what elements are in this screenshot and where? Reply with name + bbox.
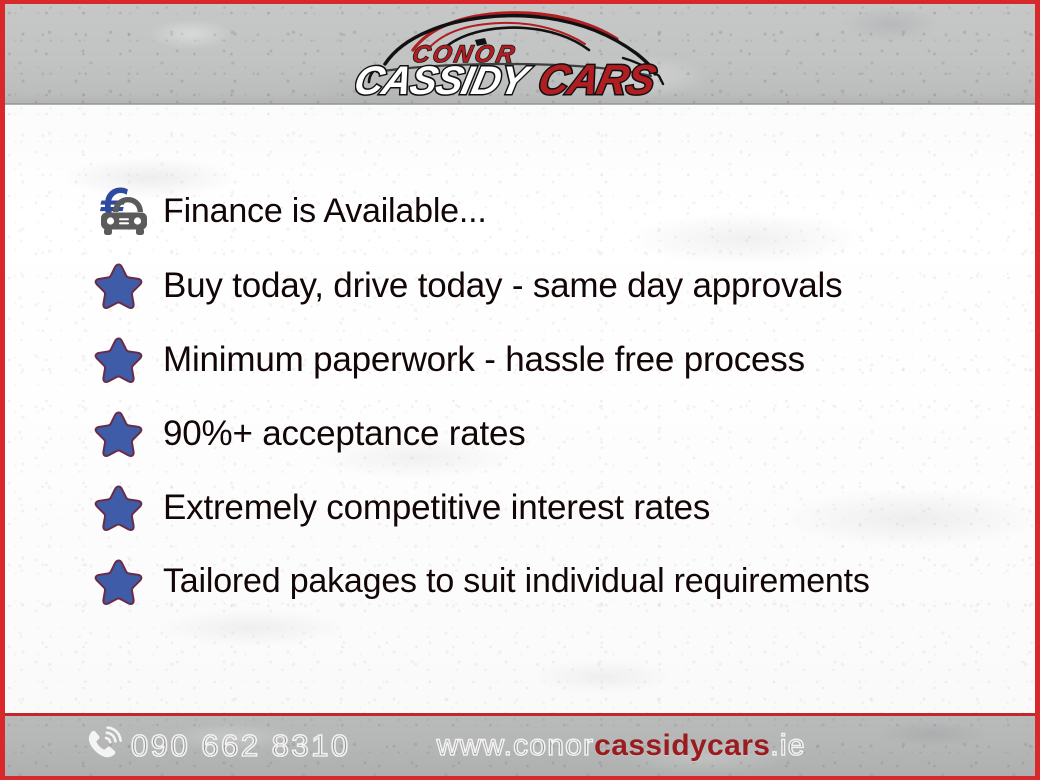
car-euro-finance-icon: [93, 183, 157, 241]
website-url[interactable]: www.conorcassidycars.ie: [437, 729, 806, 763]
footer-band: 090 662 8310 www.conorcassidycars.ie: [5, 713, 1035, 776]
website-prefix: www.: [437, 729, 513, 763]
list-item: Extremely competitive interest rates: [5, 479, 1035, 537]
phone-number[interactable]: 090 662 8310: [131, 728, 351, 764]
star-icon: [93, 261, 157, 311]
star-icon: [93, 335, 157, 385]
benefit-text: Minimum paperwork - hassle free process: [163, 342, 805, 379]
benefit-text: Finance is Available...: [163, 194, 487, 230]
phone-ringing-icon: [83, 725, 123, 768]
list-item: Finance is Available...: [5, 183, 1035, 241]
main-content: Finance is Available... Buy today, drive…: [5, 105, 1035, 713]
list-item: Buy today, drive today - same day approv…: [5, 257, 1035, 315]
star-icon: [93, 483, 157, 533]
benefit-text: Buy today, drive today - same day approv…: [163, 268, 842, 305]
star-icon: [93, 557, 157, 607]
benefit-text: Extremely competitive interest rates: [163, 490, 710, 527]
benefit-text: Tailored pakages to suit individual requ…: [163, 564, 870, 600]
list-item: Tailored pakages to suit individual requ…: [5, 553, 1035, 611]
svg-text:CASSIDY: CASSIDY: [355, 57, 536, 102]
star-icon: [93, 409, 157, 459]
website-tld: .ie: [770, 729, 805, 763]
conor-cassidy-cars-logo[interactable]: CONOR CASSIDY CARS: [355, 6, 685, 102]
benefits-list: Finance is Available... Buy today, drive…: [5, 105, 1035, 611]
list-item: Minimum paperwork - hassle free process: [5, 331, 1035, 389]
promo-poster: CONOR CASSIDY CARS: [0, 0, 1040, 780]
svg-text:CARS: CARS: [534, 56, 660, 102]
website-brand-outline: conor: [513, 729, 594, 763]
list-item: 90%+ acceptance rates: [5, 405, 1035, 463]
header-band: CONOR CASSIDY CARS: [5, 4, 1035, 105]
benefit-text: 90%+ acceptance rates: [163, 416, 526, 453]
website-brand-solid: cassidycars: [594, 729, 770, 763]
